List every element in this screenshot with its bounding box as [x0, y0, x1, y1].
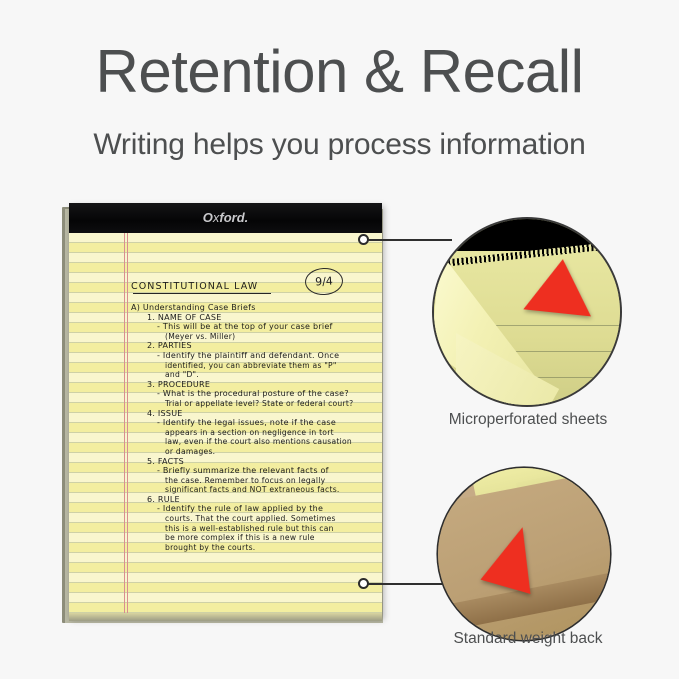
note-line: significant facts and NOT extraneous fac… [165, 485, 376, 495]
note-line: courts. That the court applied. Sometime… [165, 514, 376, 524]
note-line: - Identify the legal issues, note if the… [157, 418, 376, 428]
handwritten-notes: CONSTITUTIONAL LAW A) Understanding Case… [131, 281, 376, 552]
note-line: 2. PARTIES [147, 341, 376, 351]
notepad-paper: 9/4 CONSTITUTIONAL LAW A) Understanding … [69, 233, 382, 617]
note-line: A) Understanding Case Briefs [131, 303, 376, 313]
callout-anchor-dot-bottom [358, 578, 369, 589]
note-line: - What is the procedural posture of the … [157, 389, 376, 399]
note-line: (Meyer vs. Miller) [165, 332, 376, 342]
margin-rule-left-second [127, 233, 128, 617]
callout-anchor-dot-top [358, 234, 369, 245]
note-line: Trial or appellate level? State or feder… [165, 399, 376, 409]
notepad-body: Oxford. 9/4 CONSTITUTIONAL LAW A) Unders… [69, 203, 382, 617]
callout-circle-standard-back [438, 468, 610, 640]
red-triangle-marker [523, 256, 596, 317]
note-line: - Identify the rule of law applied by th… [157, 504, 376, 514]
callout-caption-microperforated: Microperforated sheets [398, 411, 658, 429]
note-line: - This will be at the top of your case b… [157, 322, 376, 332]
note-line: appears in a section on negligence in to… [165, 428, 376, 438]
page-title: Retention & Recall [0, 42, 679, 102]
note-line: or damages. [165, 447, 376, 457]
note-line: the case. Remember to focus on legally [165, 476, 376, 486]
product-image-canvas: Retention & Recall Writing helps you pro… [0, 0, 679, 679]
note-line: and "D". [165, 370, 376, 380]
callout-circle-microperforated [434, 219, 620, 405]
note-line: identified, you can abbreviate them as "… [165, 361, 376, 371]
note-line: this is a well-established rule but this… [165, 524, 376, 534]
oxford-logo: Oxford. [69, 210, 382, 225]
notes-title: CONSTITUTIONAL LAW [131, 281, 376, 292]
note-line: be more complex if this is a new rule [165, 533, 376, 543]
notepad-binding-strip: Oxford. [69, 203, 382, 233]
note-line: 6. RULE [147, 495, 376, 505]
callout-caption-standard-back: Standard weight back [398, 630, 658, 648]
note-line: law, even if the court also mentions cau… [165, 437, 376, 447]
note-line: 5. FACTS [147, 457, 376, 467]
notes-title-underline [133, 293, 271, 294]
note-line: - Identify the plaintiff and defendant. … [157, 351, 376, 361]
notepad-bottom-edge [69, 613, 382, 621]
note-line: - Briefly summarize the relevant facts o… [157, 466, 376, 476]
page-subtitle: Writing helps you process information [0, 128, 679, 162]
margin-rule-left [124, 233, 125, 617]
note-line: brought by the courts. [165, 543, 376, 553]
note-line: 4. ISSUE [147, 409, 376, 419]
note-line: 3. PROCEDURE [147, 380, 376, 390]
notes-list: A) Understanding Case Briefs1. NAME OF C… [131, 303, 376, 552]
note-line: 1. NAME OF CASE [147, 313, 376, 323]
notepad-product: Oxford. 9/4 CONSTITUTIONAL LAW A) Unders… [62, 203, 382, 623]
